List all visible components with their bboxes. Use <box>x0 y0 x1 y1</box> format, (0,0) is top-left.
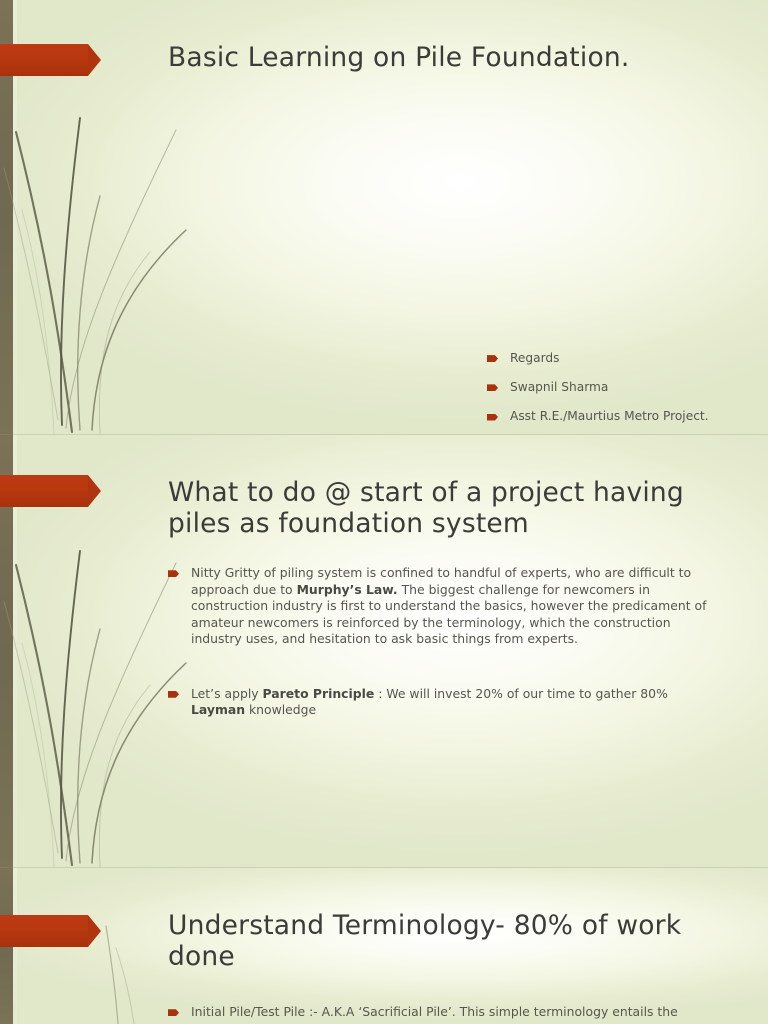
arrow-bullet-icon <box>168 691 179 698</box>
slide-accent-arrow <box>0 44 101 76</box>
slide-bullet-list: Regards Swapnil Sharma Asst R.E./Maurtiu… <box>487 350 757 435</box>
list-item-label: Nitty Gritty of piling system is confine… <box>191 565 706 646</box>
arrow-bullet-icon <box>487 414 498 421</box>
list-item: Initial Pile/Test Pile :- A.K.A ‘Sacrifi… <box>168 1004 713 1021</box>
slide-1: Basic Learning on Pile Foundation. Regar… <box>0 0 768 435</box>
list-item: Nitty Gritty of piling system is confine… <box>168 565 708 648</box>
presentation-document: Basic Learning on Pile Foundation. Regar… <box>0 0 768 1024</box>
list-item: Regards <box>487 350 757 366</box>
arrow-bullet-icon <box>168 570 179 577</box>
list-item-label: Initial Pile/Test Pile :- A.K.A ‘Sacrifi… <box>191 1004 678 1019</box>
arrow-body <box>0 915 88 947</box>
list-item-label: Let’s apply Pareto Principle : We will i… <box>191 686 668 718</box>
slide-accent-arrow <box>0 475 101 507</box>
list-item: Swapnil Sharma <box>487 379 757 395</box>
slide-accent-arrow <box>0 915 101 947</box>
list-item: Let’s apply Pareto Principle : We will i… <box>168 686 708 719</box>
slide-bullet-list: Nitty Gritty of piling system is confine… <box>168 565 708 719</box>
arrow-bullet-icon <box>487 384 498 391</box>
arrow-bullet-icon <box>168 1009 179 1016</box>
arrow-tip <box>88 475 101 507</box>
slide-title: Understand Terminology- 80% of work done <box>168 910 728 972</box>
arrow-body <box>0 475 88 507</box>
arrow-body <box>0 44 88 76</box>
arrow-tip <box>88 44 101 76</box>
slide-bullet-list: Initial Pile/Test Pile :- A.K.A ‘Sacrifi… <box>168 1004 713 1021</box>
arrow-bullet-icon <box>487 355 498 362</box>
list-item-label: Swapnil Sharma <box>510 380 608 394</box>
list-item-label: Regards <box>510 351 560 365</box>
arrow-tip <box>88 915 101 947</box>
list-item: Asst R.E./Maurtius Metro Project. <box>487 408 757 424</box>
list-item-label: Asst R.E./Maurtius Metro Project. <box>510 409 709 423</box>
slide-title: Basic Learning on Pile Foundation. <box>168 42 728 73</box>
slide-3: Understand Terminology- 80% of work done… <box>0 868 768 1024</box>
slide-title: What to do @ start of a project having p… <box>168 477 723 539</box>
slide-2: What to do @ start of a project having p… <box>0 435 768 868</box>
